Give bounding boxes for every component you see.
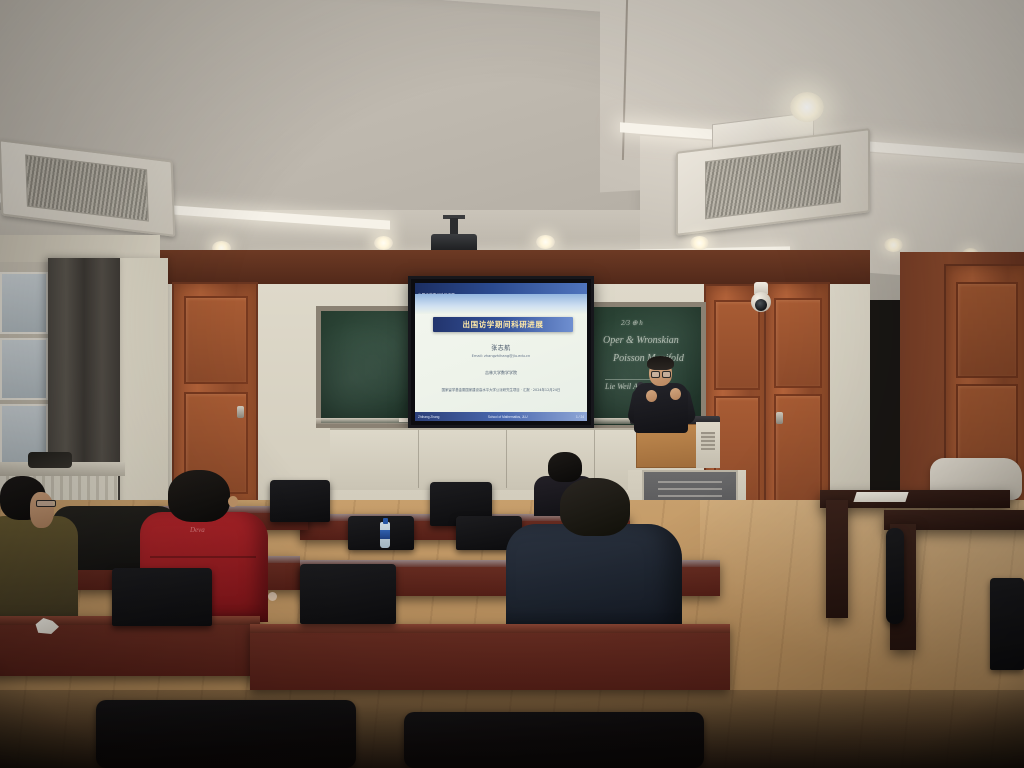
papers-on-desk[interactable] <box>853 492 908 502</box>
audience-4-head <box>548 452 582 482</box>
items-on-sill <box>28 452 72 468</box>
lens-left <box>651 371 660 378</box>
blackboard-line-2: Oper & Wronskian <box>603 335 679 346</box>
audience-1-eyeglasses-icon <box>36 500 56 507</box>
slide-header-bar: 出国访学期间科研进展 <box>415 283 587 294</box>
chair-row3-a[interactable] <box>96 700 356 768</box>
audience-3-head <box>560 478 630 536</box>
recessed-downlight <box>374 236 393 250</box>
floor-light-glare <box>700 500 1024 768</box>
table-row-3-right <box>250 624 730 690</box>
recessed-downlight <box>790 92 824 122</box>
window-pane <box>0 272 48 334</box>
bottle-cap <box>383 518 388 524</box>
presenter-right-hand <box>670 388 681 400</box>
table-row-3-right-top <box>250 624 730 633</box>
door-panel <box>774 394 822 504</box>
audience-2-jacket-seam <box>150 556 256 558</box>
camera-lens-icon <box>755 299 767 311</box>
presenter-hair <box>647 356 674 370</box>
slide-email: Email: zhangzhihang@jlu.edu.cn <box>415 354 587 358</box>
side-desk-rear-top <box>820 490 1010 508</box>
side-chair[interactable] <box>990 578 1024 670</box>
audience-1-face <box>30 492 54 528</box>
podium-vent-icon <box>701 432 715 450</box>
side-desk-rear-leg <box>826 500 848 618</box>
projector-mount-arm <box>450 218 458 234</box>
water-bottle[interactable] <box>380 516 390 548</box>
presentation-slide: 出国访学期间科研进展 出国访学期间科研进展 张志航 Email: zhangzh… <box>415 283 587 421</box>
stage-panel-seam <box>418 430 419 488</box>
audience-2-ear <box>228 496 238 507</box>
slide-footer-left: Zhihang Zhang <box>418 415 439 419</box>
chair-row3-b[interactable] <box>404 712 704 768</box>
audience-2-jacket-logo-text: Deva <box>190 526 205 534</box>
blackboard-line-1: 2/3 ⊕ h <box>621 319 643 327</box>
slide-author: 张志航 <box>415 343 587 352</box>
chair-row2-a[interactable] <box>300 564 396 624</box>
door-handle[interactable] <box>237 406 244 418</box>
presenter-left-hand <box>646 390 657 402</box>
door-panel <box>956 282 1018 378</box>
recessed-downlight <box>884 238 903 252</box>
chair-row2-b[interactable] <box>112 568 212 626</box>
slide-title-banner: 出国访学期间科研进展 <box>433 317 573 332</box>
door-handle[interactable] <box>776 412 783 424</box>
stage-panel-seam <box>506 430 507 488</box>
lecture-hall-photo: 2/3 ⊕ h Oper & Wronskian Poisson Manifol… <box>0 0 1024 768</box>
slide-footer: Zhihang Zhang School of Mathematics, JLU… <box>415 412 587 421</box>
presenter-eyeglasses-icon <box>651 371 670 376</box>
recessed-downlight <box>536 235 555 249</box>
door-panel <box>774 298 822 388</box>
slide-note: 国家留学基金委国家建设高水平大学公派研究生项目 · 汇报 · 2024年12月2… <box>415 387 587 392</box>
window-pane <box>0 338 48 400</box>
slide-footer-right: 1 / 24 <box>576 415 584 419</box>
audience-2-jacket-badge <box>268 592 277 601</box>
slide-affiliation: 吉林大学数学学院 <box>415 370 587 376</box>
projection-screen: 出国访学期间科研进展 出国访学期间科研进展 张志航 Email: zhangzh… <box>408 276 594 428</box>
side-chair-back[interactable] <box>886 528 904 624</box>
security-camera <box>748 282 774 316</box>
audience-3-torso <box>506 524 682 630</box>
audience-2-head <box>168 470 230 522</box>
door-panel <box>184 296 248 384</box>
recessed-downlight <box>690 236 709 250</box>
ac-grille-icon <box>25 154 149 221</box>
ac-grille-icon <box>705 145 842 219</box>
slide-title-text: 出国访学期间科研进展 <box>433 317 573 332</box>
slide-gradient-band <box>415 294 587 314</box>
chair-row1-a[interactable] <box>270 480 330 522</box>
lens-right <box>662 371 671 378</box>
slide-footer-center: School of Mathematics, JLU <box>488 415 528 419</box>
bottle-label <box>380 530 390 539</box>
door-center-right-leaf-b[interactable] <box>764 282 830 524</box>
